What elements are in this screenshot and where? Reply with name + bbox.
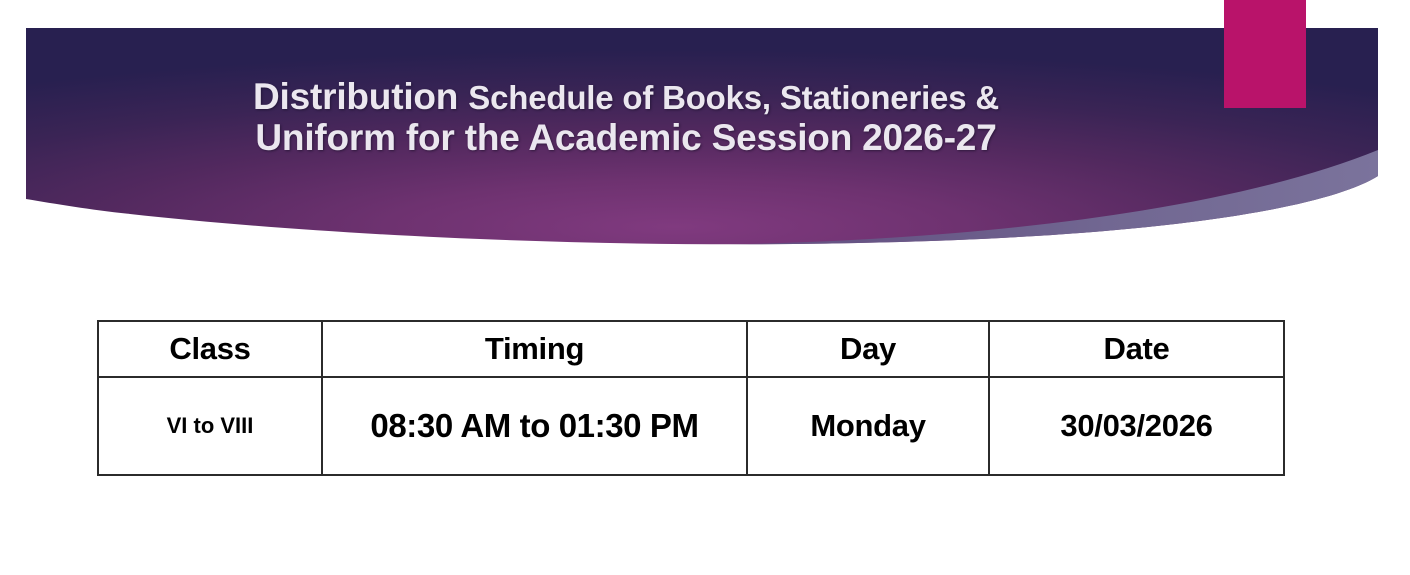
cell-date-value: 30/03/2026 <box>989 377 1284 475</box>
slide-canvas: Distribution Schedule of Books, Statione… <box>0 0 1410 575</box>
cell-class-value: VI to VIII <box>98 377 322 475</box>
table-header-row: Class Timing Day Date <box>98 321 1284 377</box>
distribution-schedule-table: Class Timing Day Date VI to VIII 08:30 A… <box>97 320 1285 476</box>
header-banner <box>0 0 1410 260</box>
magenta-accent-rectangle-overlay <box>1224 0 1306 108</box>
table-row: VI to VIII 08:30 AM to 01:30 PM Monday 3… <box>98 377 1284 475</box>
header-cell-day: Day <box>747 321 989 377</box>
header-cell-timing: Timing <box>322 321 747 377</box>
banner-graphic <box>0 0 1410 260</box>
header-cell-class: Class <box>98 321 322 377</box>
cell-day-value: Monday <box>747 377 989 475</box>
header-cell-date: Date <box>989 321 1284 377</box>
cell-timing-value: 08:30 AM to 01:30 PM <box>322 377 747 475</box>
